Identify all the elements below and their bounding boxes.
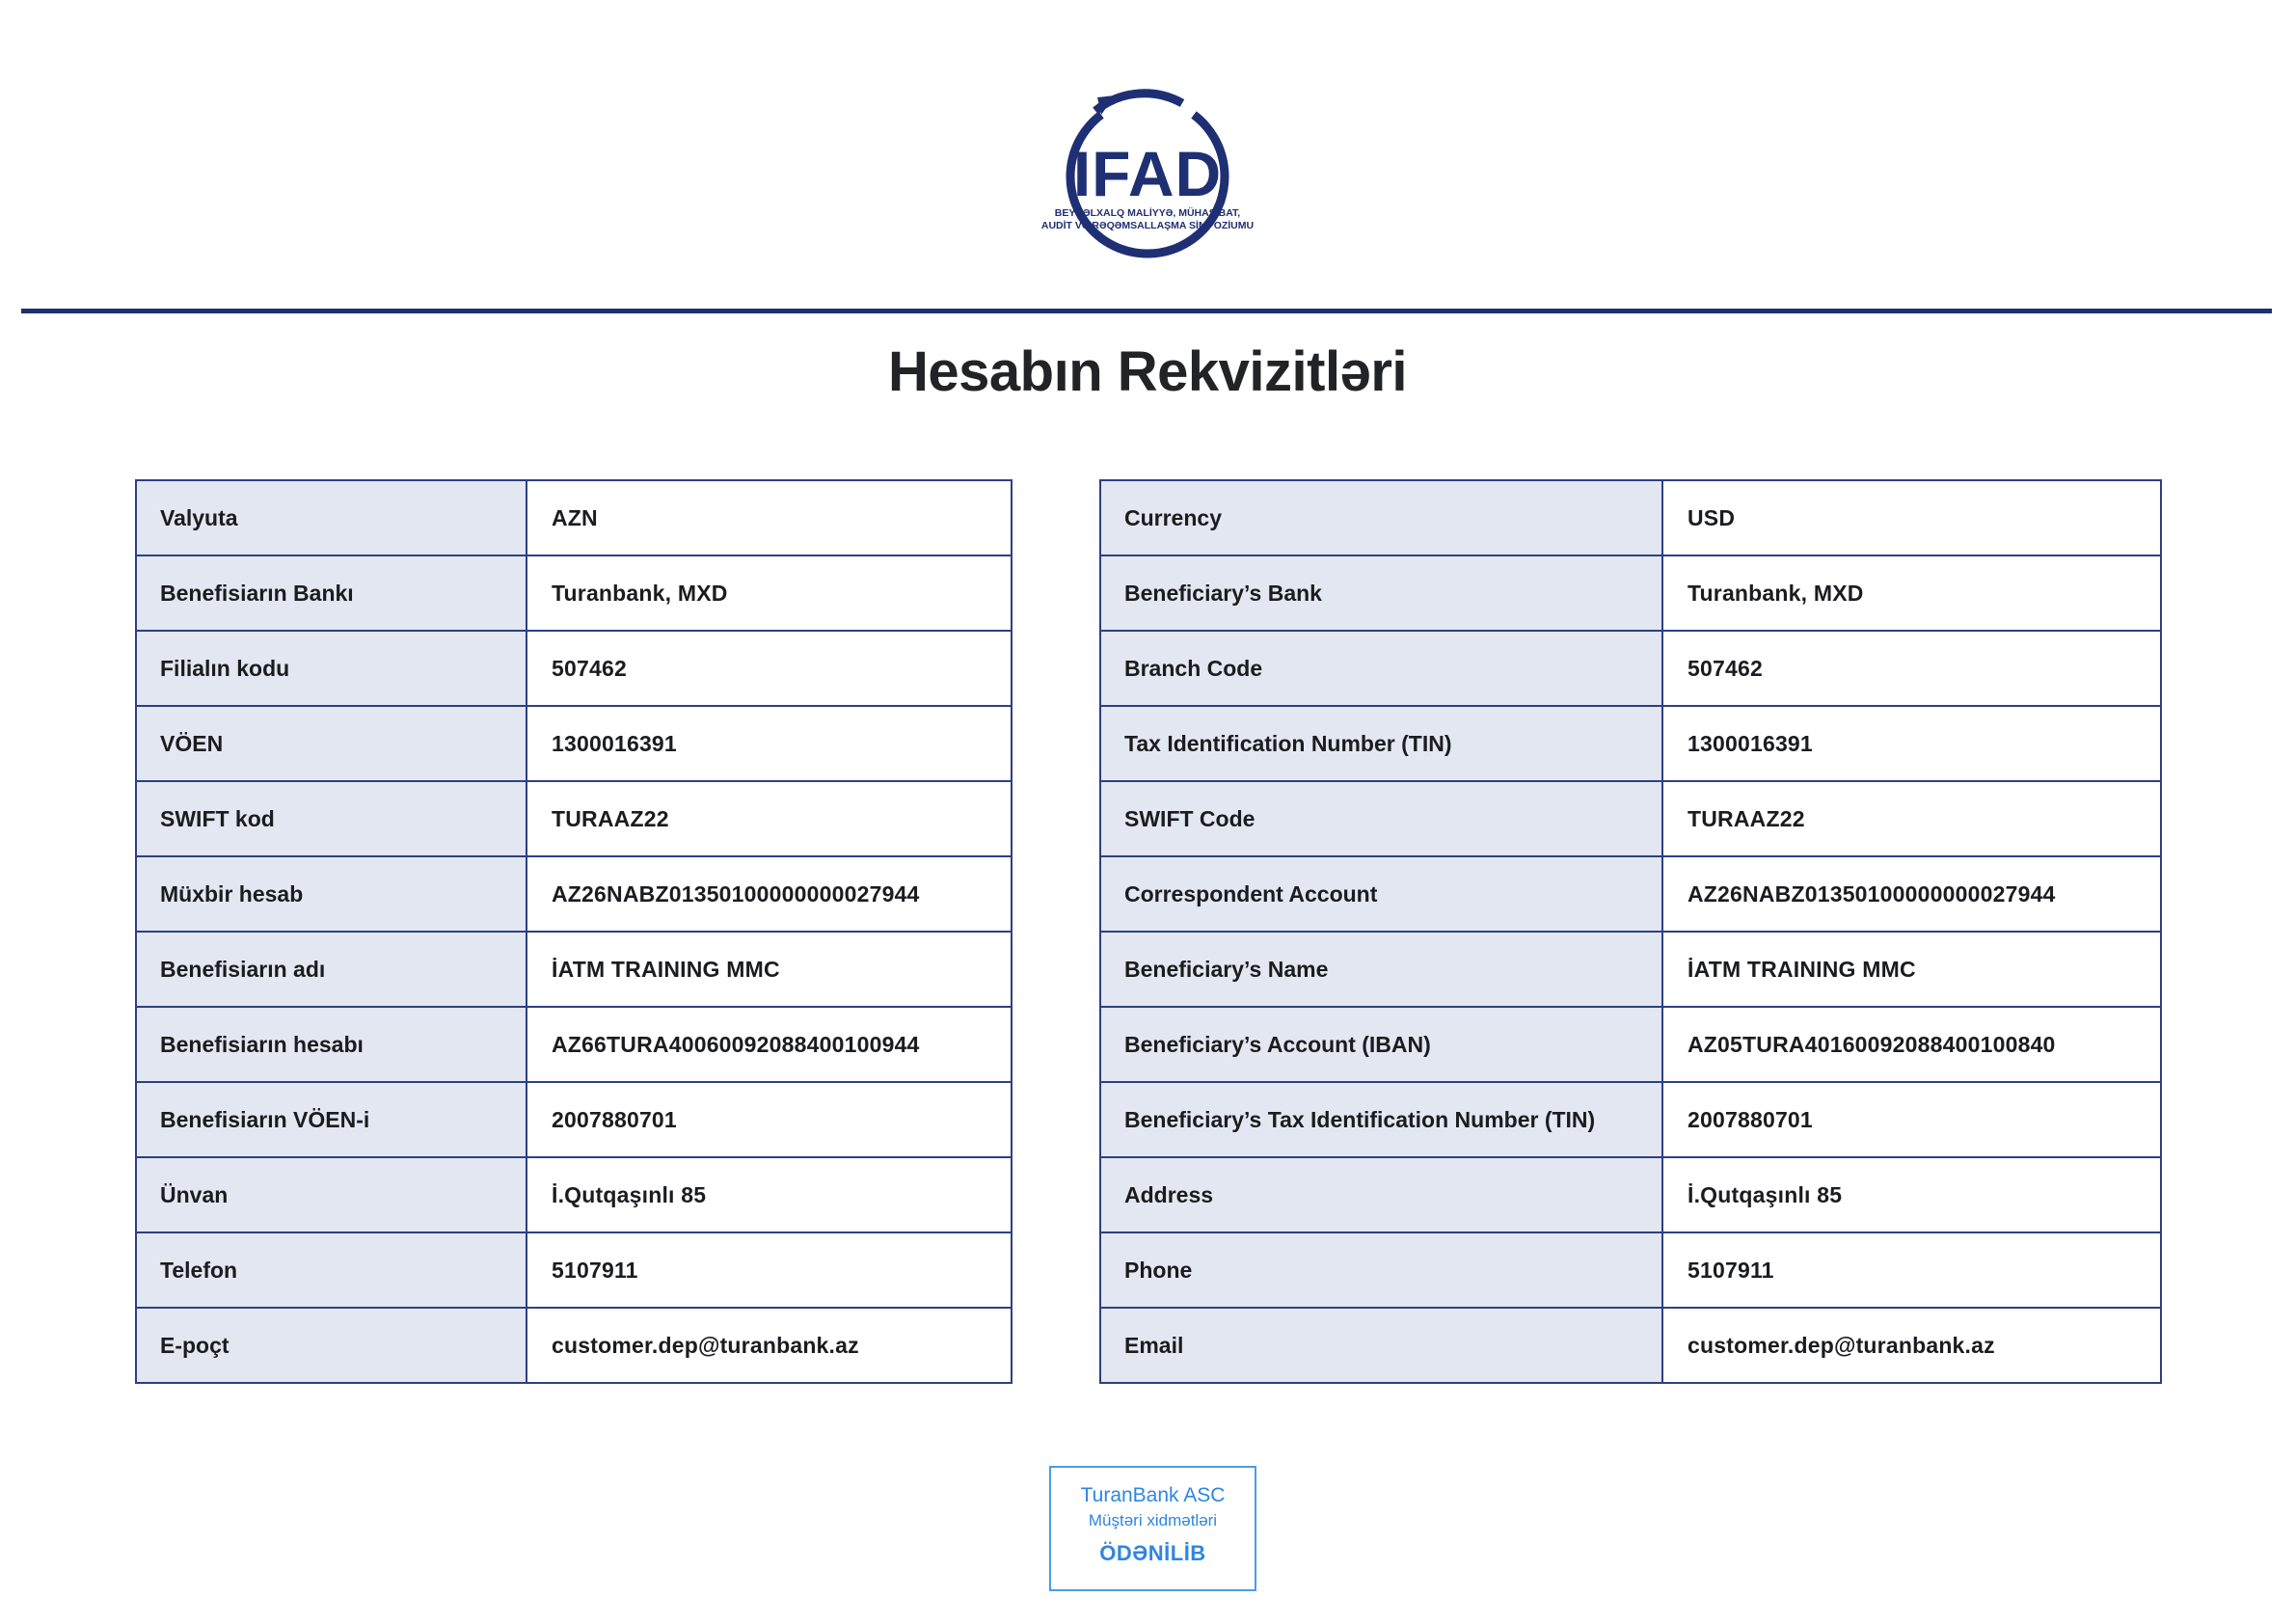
row-label: Branch Code <box>1100 631 1662 706</box>
ifad-circular-arrow-icon: IFAD BEYNƏLXALQ MALİYYƏ, MÜHASİBAT, AUDİ… <box>1038 82 1257 260</box>
row-label: Phone <box>1100 1232 1662 1308</box>
row-label: Benefisiarın adı <box>136 932 526 1007</box>
table-row: Emailcustomer.dep@turanbank.az <box>1100 1308 2161 1383</box>
row-label: Telefon <box>136 1232 526 1308</box>
table-row: Branch Code507462 <box>1100 631 2161 706</box>
row-value: TURAAZ22 <box>526 781 1012 856</box>
row-value: İ.Qutqaşınlı 85 <box>1662 1157 2161 1232</box>
row-label: Beneficiary’s Account (IBAN) <box>1100 1007 1662 1082</box>
row-label: Beneficiary’s Bank <box>1100 555 1662 631</box>
document-header: IFAD BEYNƏLXALQ MALİYYƏ, MÜHASİBAT, AUDİ… <box>0 0 2295 311</box>
svg-text:IFAD: IFAD <box>1073 138 1222 209</box>
row-label: Filialın kodu <box>136 631 526 706</box>
row-label: SWIFT kod <box>136 781 526 856</box>
row-label: Ünvan <box>136 1157 526 1232</box>
row-label: Beneficiary’s Name <box>1100 932 1662 1007</box>
table-row: Beneficiary’s Account (IBAN)AZ05TURA4016… <box>1100 1007 2161 1082</box>
row-value: 1300016391 <box>526 706 1012 781</box>
table-row: Telefon5107911 <box>136 1232 1012 1308</box>
row-value: Turanbank, MXD <box>1662 555 2161 631</box>
row-label: E-poçt <box>136 1308 526 1383</box>
row-value: 2007880701 <box>526 1082 1012 1157</box>
row-value: İATM TRAINING MMC <box>526 932 1012 1007</box>
row-value: İ.Qutqaşınlı 85 <box>526 1157 1012 1232</box>
row-label: Correspondent Account <box>1100 856 1662 932</box>
table-row: SWIFT CodeTURAAZ22 <box>1100 781 2161 856</box>
header-divider <box>21 309 2272 313</box>
row-value: 2007880701 <box>1662 1082 2161 1157</box>
table-row: Phone5107911 <box>1100 1232 2161 1308</box>
row-label: Valyuta <box>136 480 526 555</box>
row-value: TURAAZ22 <box>1662 781 2161 856</box>
row-label: VÖEN <box>136 706 526 781</box>
account-details-document: IFAD BEYNƏLXALQ MALİYYƏ, MÜHASİBAT, AUDİ… <box>0 0 2295 1624</box>
table-row: Ünvanİ.Qutqaşınlı 85 <box>136 1157 1012 1232</box>
table-row: Correspondent AccountAZ26NABZ01350100000… <box>1100 856 2161 932</box>
table-row: Beneficiary’s Bank Turanbank, MXD <box>1100 555 2161 631</box>
row-label: Müxbir hesab <box>136 856 526 932</box>
row-value: İATM TRAINING MMC <box>1662 932 2161 1007</box>
row-value: 5107911 <box>526 1232 1012 1308</box>
table-row: Addressİ.Qutqaşınlı 85 <box>1100 1157 2161 1232</box>
table-row: E-poçtcustomer.dep@turanbank.az <box>136 1308 1012 1383</box>
row-label: Benefisiarın VÖEN-i <box>136 1082 526 1157</box>
logo-subtitle-line2: AUDİT VƏ RƏQƏMSALLAŞMA SİMPOZİUMU <box>1041 219 1254 231</box>
table-row: ValyutaAZN <box>136 480 1012 555</box>
requisites-table-en: CurrencyUSDBeneficiary’s Bank Turanbank,… <box>1099 479 2162 1384</box>
row-value: AZ26NABZ01350100000000027944 <box>526 856 1012 932</box>
table-row: SWIFT kodTURAAZ22 <box>136 781 1012 856</box>
table-row: Benefisiarın VÖEN-i2007880701 <box>136 1082 1012 1157</box>
row-value: customer.dep@turanbank.az <box>1662 1308 2161 1383</box>
row-value: AZ26NABZ01350100000000027944 <box>1662 856 2161 932</box>
table-row: Filialın kodu507462 <box>136 631 1012 706</box>
requisites-table-en-body: CurrencyUSDBeneficiary’s Bank Turanbank,… <box>1100 480 2161 1383</box>
row-label: Tax Identification Number (TIN) <box>1100 706 1662 781</box>
table-row: Benefisiarın hesabıAZ66TURA4006009208840… <box>136 1007 1012 1082</box>
requisites-table-az: ValyutaAZNBenefisiarın Bankı Turanbank, … <box>135 479 1012 1384</box>
row-value: AZN <box>526 480 1012 555</box>
page-title: Hesabın Rekvizitləri <box>0 339 2295 404</box>
row-value: AZ66TURA40060092088400100944 <box>526 1007 1012 1082</box>
row-value: 1300016391 <box>1662 706 2161 781</box>
stamp-department: Müştəri xidmətləri <box>1051 1510 1255 1531</box>
payment-stamp: TuranBank ASC Müştəri xidmətləri ÖDƏNİLİ… <box>1049 1466 1256 1591</box>
row-label: Currency <box>1100 480 1662 555</box>
row-label: SWIFT Code <box>1100 781 1662 856</box>
table-row: Benefisiarın adıİATM TRAINING MMC <box>136 932 1012 1007</box>
table-row: Beneficiary’s NameİATM TRAINING MMC <box>1100 932 2161 1007</box>
row-value: AZ05TURA40160092088400100840 <box>1662 1007 2161 1082</box>
row-value: customer.dep@turanbank.az <box>526 1308 1012 1383</box>
ifad-logo: IFAD BEYNƏLXALQ MALİYYƏ, MÜHASİBAT, AUDİ… <box>1038 82 1257 260</box>
row-label: Benefisiarın Bankı <box>136 555 526 631</box>
row-label: Email <box>1100 1308 1662 1383</box>
row-label: Beneficiary’s Tax Identification Number … <box>1100 1082 1662 1157</box>
row-label: Benefisiarın hesabı <box>136 1007 526 1082</box>
table-row: Beneficiary’s Tax Identification Number … <box>1100 1082 2161 1157</box>
row-label: Address <box>1100 1157 1662 1232</box>
row-value: Turanbank, MXD <box>526 555 1012 631</box>
row-value: 5107911 <box>1662 1232 2161 1308</box>
row-value: 507462 <box>526 631 1012 706</box>
table-row: CurrencyUSD <box>1100 480 2161 555</box>
table-row: Tax Identification Number (TIN)130001639… <box>1100 706 2161 781</box>
row-value: USD <box>1662 480 2161 555</box>
logo-subtitle-line1: BEYNƏLXALQ MALİYYƏ, MÜHASİBAT, <box>1055 206 1240 219</box>
stamp-status-badge: ÖDƏNİLİB <box>1051 1541 1255 1566</box>
requisites-tables: ValyutaAZNBenefisiarın Bankı Turanbank, … <box>0 479 2295 1386</box>
requisites-table-az-body: ValyutaAZNBenefisiarın Bankı Turanbank, … <box>136 480 1012 1383</box>
table-row: VÖEN1300016391 <box>136 706 1012 781</box>
table-row: Benefisiarın Bankı Turanbank, MXD <box>136 555 1012 631</box>
row-value: 507462 <box>1662 631 2161 706</box>
table-row: Müxbir hesabAZ26NABZ01350100000000027944 <box>136 856 1012 932</box>
stamp-bank-name: TuranBank ASC <box>1051 1483 1255 1508</box>
